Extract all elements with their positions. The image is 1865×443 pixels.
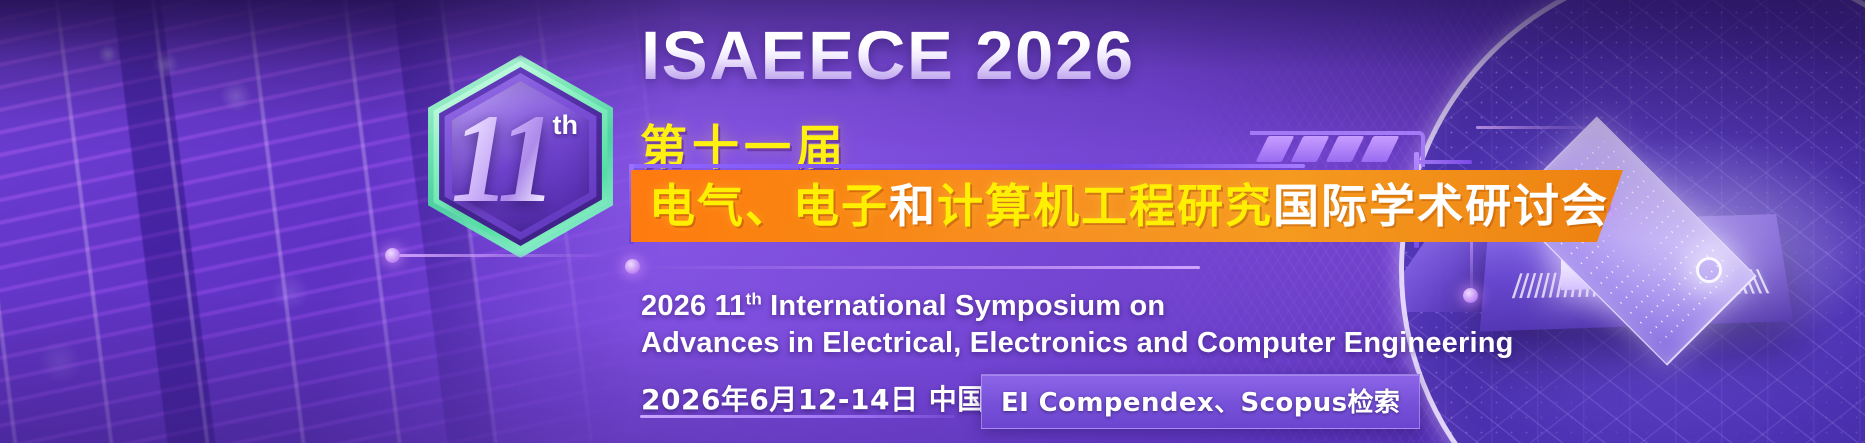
subtitle-ordinal-sup: th	[746, 289, 762, 308]
frame-top-line	[631, 164, 1305, 168]
subtitle-line-1: 2026 11th International Symposium on	[641, 288, 1514, 325]
banner-copy: ISAEECE 2026 第十一届 电气、电子和计算机工程研究国际学术研讨会 2…	[0, 0, 1865, 443]
conference-subtitle-en: 2026 11th International Symposium on Adv…	[641, 288, 1514, 362]
indexing-badge: EI Compendex、Scopus检索	[981, 374, 1420, 429]
subtitle-line1-pre: 2026 11	[641, 290, 746, 322]
title-cn-part-2: 和	[889, 179, 937, 233]
title-cn-part-4: 国际学术研讨会	[1273, 179, 1609, 233]
conference-banner: 11 th ISAEECE 2026 第十一届 电气、电子和计算机工程研究国际学…	[0, 0, 1865, 443]
stripe	[1291, 136, 1330, 162]
frame-right-tail	[1414, 160, 1472, 164]
subtitle-line1-post: International Symposium on	[762, 290, 1165, 322]
diagonal-stripe-accents	[1256, 136, 1421, 162]
title-cn-part-3: 计算机工程研究	[937, 179, 1273, 233]
conference-acronym-title: ISAEECE 2026	[641, 21, 1135, 90]
title-bar-text: 电气、电子和计算机工程研究国际学术研讨会	[649, 183, 1609, 229]
date-underline	[640, 415, 955, 418]
conference-title-bar-cn: 电气、电子和计算机工程研究国际学术研讨会	[631, 170, 1623, 242]
stripe	[1326, 136, 1365, 162]
subtitle-line-2: Advances in Electrical, Electronics and …	[641, 325, 1514, 362]
indexing-badge-label: EI Compendex、Scopus检索	[1001, 388, 1400, 418]
title-cn-part-1: 电气、电子	[649, 179, 889, 233]
stripe	[1361, 136, 1400, 162]
